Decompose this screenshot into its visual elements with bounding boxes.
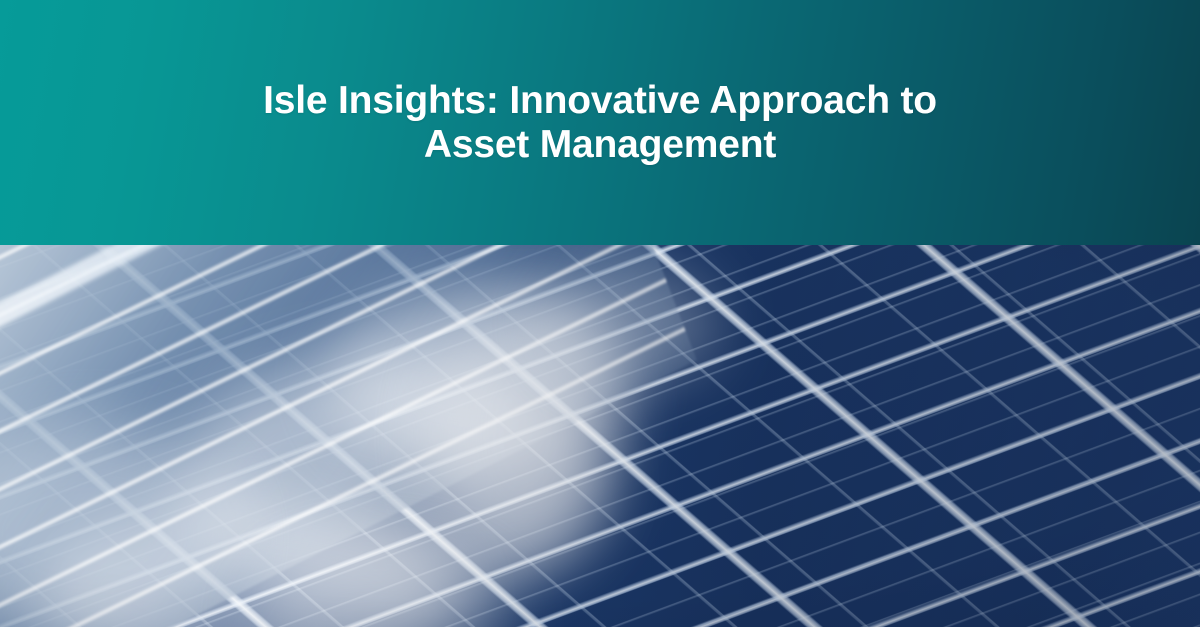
isle-insights-banner-page: Isle Insights: Innovative Approach to As… [0, 0, 1200, 627]
banner-inner: Isle Insights: Innovative Approach to As… [190, 79, 1010, 167]
header-banner: Isle Insights: Innovative Approach to As… [0, 0, 1200, 245]
page-title: Isle Insights: Innovative Approach to As… [190, 79, 1010, 167]
hero-photo-solar-panels [0, 245, 1200, 627]
